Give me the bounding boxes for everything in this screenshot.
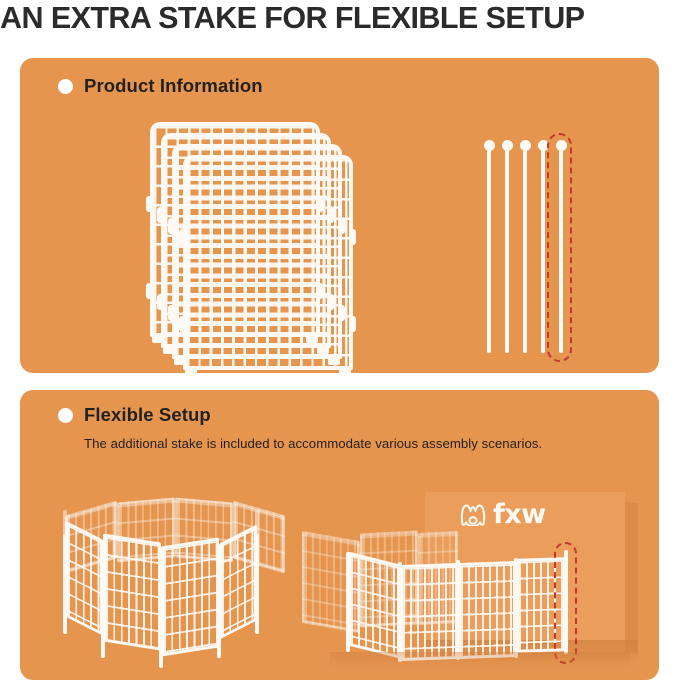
pen-panel xyxy=(103,533,161,650)
fence-clip-icon xyxy=(179,229,186,245)
section-flexible-title: Flexible Setup xyxy=(84,404,211,426)
fence-clip-icon xyxy=(316,196,323,212)
pen-post xyxy=(398,562,402,662)
wall-pen-illustration: fxw xyxy=(330,470,650,680)
stake xyxy=(505,148,509,353)
section-product-header: Product Information xyxy=(58,75,263,97)
brand-logo-text: fxw xyxy=(493,504,546,526)
fence-clip-icon xyxy=(349,316,356,332)
pen-post xyxy=(159,556,163,668)
stake xyxy=(541,148,545,353)
pen-panel xyxy=(400,563,458,661)
pen-post xyxy=(63,534,67,634)
fence-clip-icon xyxy=(179,316,186,332)
fence-clip-icon xyxy=(338,305,345,321)
fence-clip-icon xyxy=(168,305,175,321)
pen-panel xyxy=(161,537,219,656)
stake-head-icon xyxy=(520,140,531,151)
fence-clip-icon xyxy=(146,283,153,299)
ground-stakes-illustration xyxy=(455,130,565,360)
brand-logo: fxw xyxy=(460,504,546,526)
fence-clip-icon xyxy=(316,283,323,299)
fence-clip-icon xyxy=(338,218,345,234)
pen-panel xyxy=(219,524,257,639)
pen-panel xyxy=(458,561,516,659)
pen-post xyxy=(456,560,460,660)
pen-panel xyxy=(65,520,103,635)
extra-stake-highlight xyxy=(547,133,572,362)
stake xyxy=(487,148,491,353)
dog-head-icon xyxy=(460,504,486,526)
fence-clip-icon xyxy=(327,294,334,310)
infographic-page: AN EXTRA STAKE FOR FLEXIBLE SETUP Produc… xyxy=(0,0,679,690)
fence-clip-icon xyxy=(349,229,356,245)
extra-stake-highlight xyxy=(554,542,577,664)
fence-clip-icon xyxy=(157,207,164,223)
octagon-pen-illustration xyxy=(35,500,305,670)
fence-clip-icon xyxy=(146,196,153,212)
section-product-information: Product Information xyxy=(20,58,659,373)
bullet-icon xyxy=(58,408,73,423)
wall-side xyxy=(625,502,638,653)
fence-clip-icon xyxy=(157,294,164,310)
stake-head-icon xyxy=(484,140,495,151)
section-product-title: Product Information xyxy=(84,75,263,97)
pen-post xyxy=(514,558,518,658)
section-flexible-subtitle: The additional stake is included to acco… xyxy=(84,436,542,451)
floor-shadow xyxy=(330,652,630,668)
fence-panel xyxy=(183,155,353,370)
fence-clip-icon xyxy=(168,218,175,234)
pen-post xyxy=(217,550,221,658)
pen-post xyxy=(255,534,259,634)
page-title: AN EXTRA STAKE FOR FLEXIBLE SETUP xyxy=(0,0,669,38)
section-flexible-header: Flexible Setup xyxy=(58,404,211,426)
pen-post-back xyxy=(63,510,67,538)
fence-clip-icon xyxy=(327,207,334,223)
bullet-icon xyxy=(58,79,73,94)
pen-post-back xyxy=(255,510,259,538)
stake xyxy=(523,148,527,353)
stake-head-icon xyxy=(502,140,513,151)
stacked-fence-panels-illustration xyxy=(150,100,400,370)
fence-panel-foot xyxy=(183,366,353,370)
pen-post xyxy=(101,550,105,658)
pen-panel xyxy=(348,552,400,659)
pen-post xyxy=(346,552,350,652)
